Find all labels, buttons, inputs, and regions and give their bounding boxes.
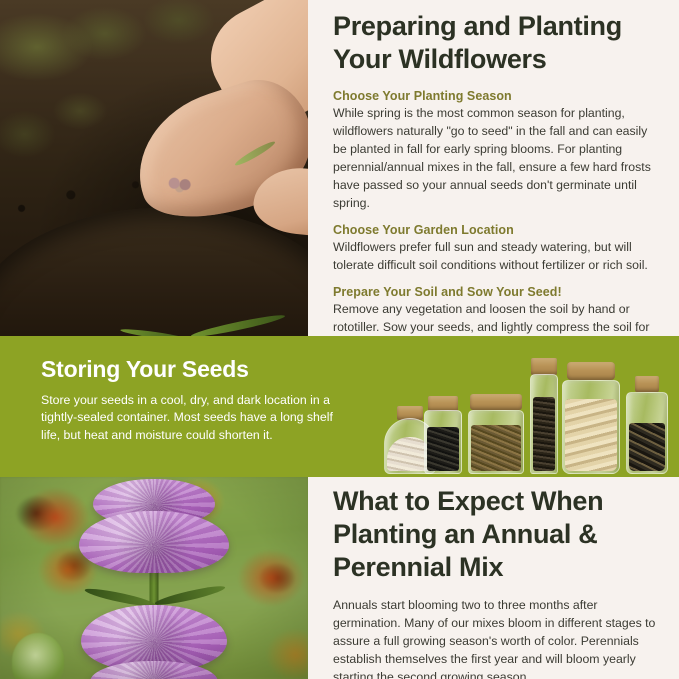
cork-lid: [635, 376, 659, 392]
glass-body: [626, 392, 668, 474]
seed-fill: [427, 427, 459, 471]
seed-jar: [424, 396, 462, 474]
subheading-prepare-soil: Prepare Your Soil and Sow Your Seed!: [333, 285, 663, 299]
wildflower-photo: [0, 477, 308, 679]
seed-fill: [471, 425, 521, 471]
body-planting-season: While spring is the most common season f…: [333, 104, 663, 212]
seed-jar: [530, 358, 558, 474]
photo-vignette: [0, 477, 308, 679]
body-garden-location: Wildflowers prefer full sun and steady w…: [333, 238, 663, 274]
what-to-expect-body: Annuals start blooming two to three mont…: [333, 596, 663, 679]
seed-fill: [565, 399, 617, 471]
what-to-expect-title: What to Expect When Planting an Annual &…: [333, 485, 663, 584]
section-one-text-column: Preparing and Planting Your Wildflowers …: [333, 10, 663, 355]
cork-lid: [470, 394, 522, 410]
glass-body: [424, 410, 462, 474]
glass-body: [562, 380, 620, 474]
section-preparing-and-planting: Preparing and Planting Your Wildflowers …: [0, 0, 679, 336]
soil-planting-photo: [0, 0, 308, 336]
seed-fill: [533, 397, 555, 471]
section-storing-your-seeds: Storing Your Seeds Store your seeds in a…: [0, 336, 679, 477]
glass-body: [468, 410, 524, 474]
subheading-garden-location: Choose Your Garden Location: [333, 223, 663, 237]
section-what-to-expect: What to Expect When Planting an Annual &…: [0, 477, 679, 679]
seed-jar: [626, 376, 668, 474]
seed-fill: [629, 423, 665, 471]
seed-jar: [562, 362, 620, 474]
subheading-planting-season: Choose Your Planting Season: [333, 89, 663, 103]
section-three-text-column: What to Expect When Planting an Annual &…: [333, 485, 663, 679]
green-band-text: Storing Your Seeds Store your seeds in a…: [41, 356, 341, 444]
seed-jars-photo: [384, 342, 659, 474]
storing-seeds-body: Store your seeds in a cool, dry, and dar…: [41, 392, 341, 444]
seeds-in-hand: [164, 176, 198, 194]
storing-seeds-title: Storing Your Seeds: [41, 356, 341, 383]
cork-lid: [531, 358, 557, 375]
seed-jar: [468, 394, 524, 474]
glass-body: [530, 374, 558, 474]
infographic-page: Preparing and Planting Your Wildflowers …: [0, 0, 679, 679]
page-title: Preparing and Planting Your Wildflowers: [333, 10, 663, 76]
cork-lid: [428, 396, 458, 411]
cork-lid: [567, 362, 615, 380]
